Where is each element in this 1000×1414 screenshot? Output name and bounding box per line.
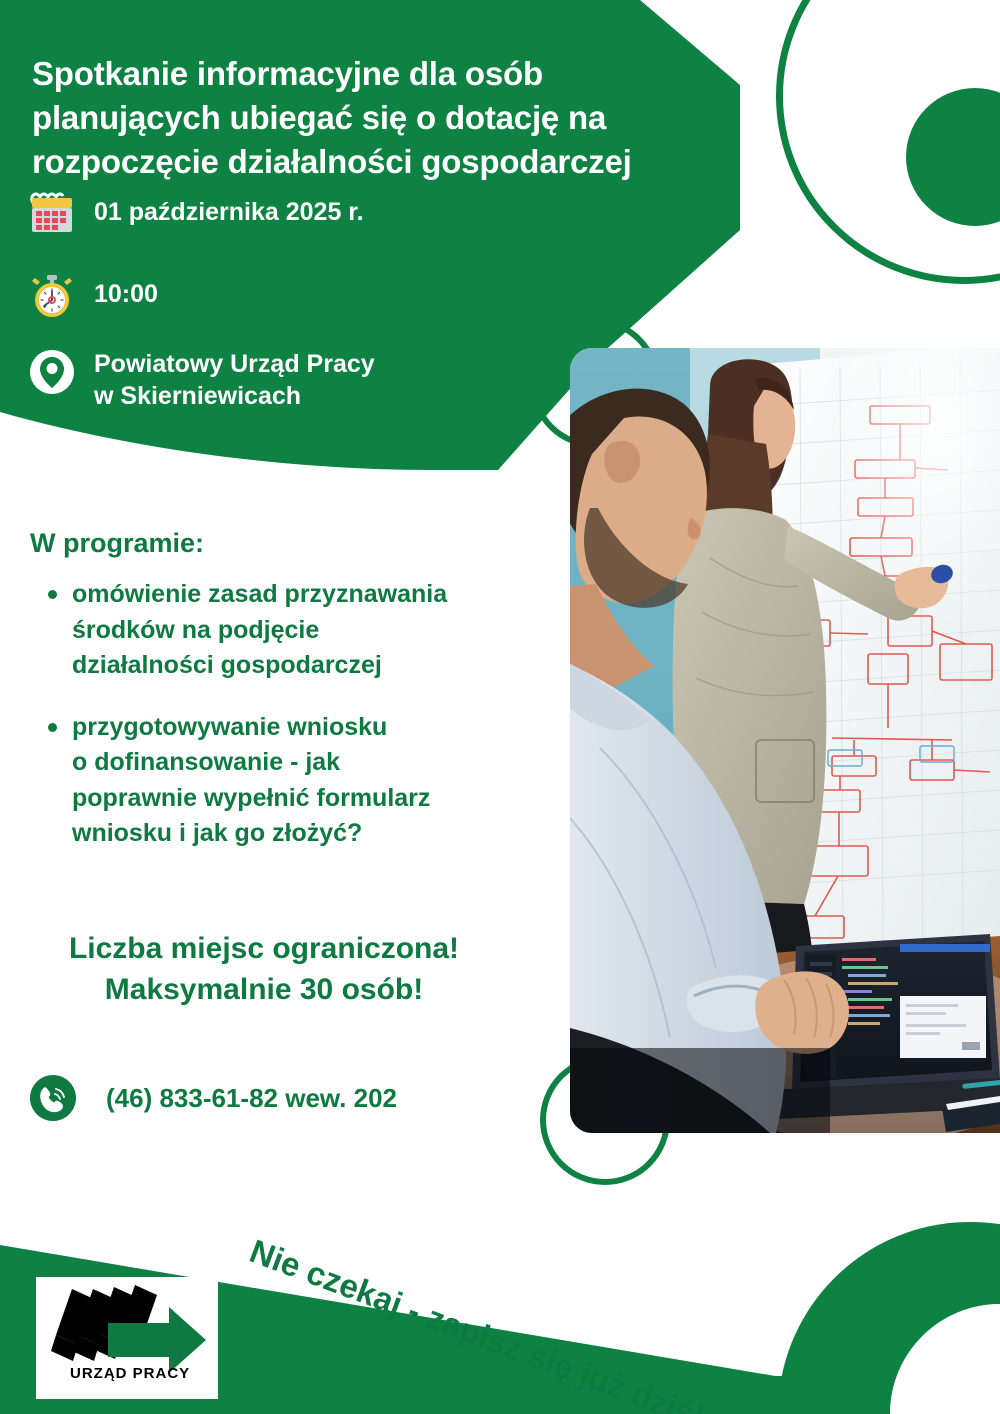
photo-illustration: Lorem ipsum dolor sit amet consectetur a… bbox=[570, 348, 1000, 1133]
event-place-text: Powiatowy Urząd Pracy w Skierniewicach bbox=[94, 348, 375, 412]
contact-phone-text: (46) 833-61-82 wew. 202 bbox=[106, 1083, 397, 1114]
list-item: przygotowywanie wniosku o dofinansowanie… bbox=[30, 710, 550, 852]
stopwatch-icon bbox=[28, 272, 76, 320]
event-date-row: 01 października 2025 r. bbox=[28, 190, 364, 238]
calendar-icon bbox=[28, 190, 76, 238]
location-pin-icon bbox=[28, 348, 76, 396]
phone-icon bbox=[28, 1073, 78, 1123]
event-photo: Lorem ipsum dolor sit amet consectetur a… bbox=[570, 348, 1000, 1133]
program-heading: W programie: bbox=[30, 528, 550, 559]
event-place-row: Powiatowy Urząd Pracy w Skierniewicach bbox=[28, 348, 375, 412]
list-item: omówienie zasad przyznawania środków na … bbox=[30, 577, 550, 684]
urzad-pracy-logo: URZĄD PRACY bbox=[36, 1277, 218, 1399]
seat-limit-note: Liczba miejsc ograniczona! Maksymalnie 3… bbox=[0, 928, 528, 1011]
contact-phone-row[interactable]: (46) 833-61-82 wew. 202 bbox=[28, 1073, 397, 1123]
poster-canvas: Spotkanie informacyjne dla osób planując… bbox=[0, 0, 1000, 1414]
logo-mark: URZĄD PRACY bbox=[36, 1277, 218, 1399]
event-date-text: 01 października 2025 r. bbox=[94, 190, 364, 228]
event-time-row: 10:00 bbox=[28, 272, 158, 320]
logo-text: URZĄD PRACY bbox=[70, 1365, 190, 1382]
footer-tagline: Nie czekaj - zapisz się już dziś! bbox=[245, 1232, 710, 1414]
program-list: omówienie zasad przyznawania środków na … bbox=[30, 577, 550, 852]
page-title: Spotkanie informacyjne dla osób planując… bbox=[32, 52, 672, 184]
event-time-text: 10:00 bbox=[94, 272, 158, 310]
program-section: W programie: omówienie zasad przyznawani… bbox=[30, 528, 550, 878]
